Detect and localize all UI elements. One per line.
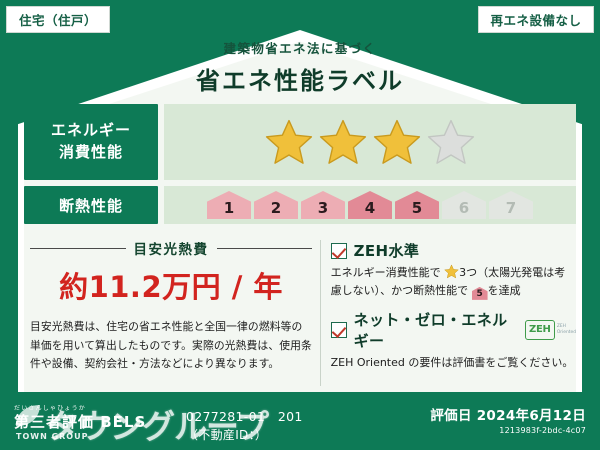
insulation-level-scale: 1234567 [207,191,533,219]
rule-right [217,248,313,249]
certificate-id: 0277281-01 201 （不動産ID：） [186,406,303,443]
real-estate-id: （不動産ID：） [186,426,303,443]
utility-cost-note: 目安光熱費は、住宅の省エネ性能と全国一律の燃料等の単価を用いて算出したものです。… [30,318,312,374]
check-item-zeh-standard: ZEH水準 エネルギー消費性能で 3つ（太陽光発電は考慮しない）、かつ断熱性能で… [331,240,576,300]
performance-section: エネルギー 消費性能 断熱性能 1234567 [24,104,576,230]
zeh-logo: ZEH ZEH Oriented [525,320,576,340]
title-subtitle: 建築物省エネ法に基づく [0,38,600,57]
net-zero-title: ネット・ゼロ・エネルギー [354,309,516,351]
energy-label-line2: 消費性能 [59,142,123,164]
zeh-tag-line2: Oriented [557,330,576,335]
zeh-standard-title: ZEH水準 [354,240,420,261]
star-rating [265,118,475,166]
zeh-standard-head: ZEH水準 [331,240,576,261]
rule-left [30,248,126,249]
insulation-value: 1234567 [164,186,576,224]
certificate-id-value: 0277281-01 201 [186,409,303,424]
third-party-label: 第三者評価 BELS [14,411,146,432]
energy-consumption-value [164,104,576,180]
insulation-level-1: 1 [207,191,251,219]
insulation-level-7: 7 [489,191,533,219]
check-item-net-zero-energy: ネット・ゼロ・エネルギー ZEH ZEH Oriented ZEH Orient… [331,309,576,372]
insulation-label: 断熱性能 [24,186,158,224]
badge-renewable-equipment: 再エネ設備なし [478,6,594,33]
utility-cost-heading: 目安光熱費 [30,238,312,258]
third-party-ruby: だいさんしゃひょうか [14,403,146,412]
row-energy-consumption: エネルギー 消費性能 [24,104,576,180]
badge-building-type: 住宅（住戸） [6,6,110,33]
label-footer: だいさんしゃひょうか 第三者評価 BELS 0277281-01 201 （不動… [0,392,600,450]
details-section: 目安光熱費 約11.2万円 / 年 目安光熱費は、住宅の省エネ性能と全国一律の燃… [24,238,576,388]
evaluation-date-block: 評価日 2024年6月12日 1213983f-2bdc-4c07 [430,404,586,435]
checkbox-checked-icon [331,322,347,338]
zeh-mark-text: ZEH [525,320,555,340]
certification-checklist: ZEH水準 エネルギー消費性能で 3つ（太陽光発電は考慮しない）、かつ断熱性能で… [331,238,576,388]
insulation-level-5: 5 [395,191,439,219]
evaluation-date: 評価日 2024年6月12日 [430,404,586,424]
evaluation-hash: 1213983f-2bdc-4c07 [430,426,586,435]
star-empty-icon [427,118,475,166]
third-party-evaluation: だいさんしゃひょうか 第三者評価 BELS [14,403,146,432]
star-filled-icon [319,118,367,166]
star-filled-icon [373,118,421,166]
zeh-logo-tagline: ZEH Oriented [557,324,576,335]
net-zero-body: ZEH Oriented の要件は評価書をご覧ください。 [331,354,576,372]
insulation-level-3: 3 [301,191,345,219]
energy-label-line1: エネルギー [51,120,131,142]
zeh-standard-body: エネルギー消費性能で 3つ（太陽光発電は考慮しない）、かつ断熱性能で 5を達成 [331,264,576,300]
zeh-body-part2: を達成 [488,284,521,297]
zeh-body-part1: エネルギー消費性能で [331,266,441,279]
inline-insulation-chip: 5 [472,287,488,300]
star-filled-icon [265,118,313,166]
utility-cost-heading-text: 目安光熱費 [134,238,209,258]
inline-star-icon [444,264,459,279]
net-zero-head: ネット・ゼロ・エネルギー ZEH ZEH Oriented [331,309,576,351]
energy-consumption-label: エネルギー 消費性能 [24,104,158,180]
page-title: 建築物省エネ法に基づく 省エネ性能ラベル [0,38,600,96]
vertical-divider [320,240,321,386]
insulation-level-2: 2 [254,191,298,219]
zeh-tag-line1: ZEH [557,324,566,329]
insulation-level-6: 6 [442,191,486,219]
energy-performance-label: 住宅（住戸） 再エネ設備なし 建築物省エネ法に基づく 省エネ性能ラベル エネルギ… [0,0,600,450]
title-main: 省エネ性能ラベル [0,61,600,96]
checkbox-checked-icon [331,243,347,259]
insulation-level-4: 4 [348,191,392,219]
row-insulation: 断熱性能 1234567 [24,186,576,224]
utility-cost-panel: 目安光熱費 約11.2万円 / 年 目安光熱費は、住宅の省エネ性能と全国一律の燃… [24,238,318,388]
utility-cost-amount: 約11.2万円 / 年 [30,264,312,306]
